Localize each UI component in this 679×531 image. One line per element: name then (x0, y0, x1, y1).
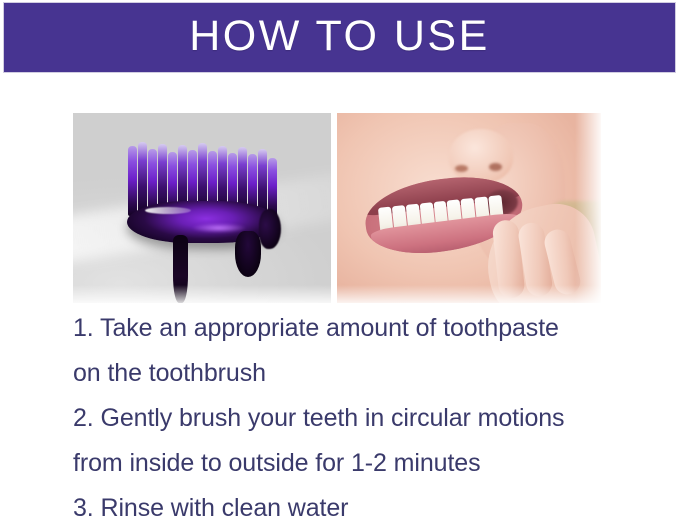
smile-photo-bottom-fade (337, 285, 601, 303)
how-to-use-infographic: HOW TO USE (0, 0, 679, 498)
instruction-line-5: 3. Rinse with clean water (73, 486, 633, 531)
nostril-right (489, 163, 502, 171)
toothbrush-head-purple-glow (191, 223, 247, 233)
photo-toothbrush-with-black-toothpaste (73, 113, 331, 303)
photo-strip (73, 113, 601, 303)
smile-photo-right-fade (575, 113, 601, 303)
toothbrush-head-highlight (145, 207, 191, 214)
instruction-line-2: on the toothbrush (73, 351, 633, 396)
header-banner: HOW TO USE (4, 3, 675, 72)
instruction-line-1: 1. Take an appropriate amount of toothpa… (73, 306, 633, 351)
brush-photo-bottom-fade (73, 285, 331, 303)
instruction-line-4: from inside to outside for 1-2 minutes (73, 441, 633, 486)
photo-woman-smiling-white-teeth (337, 113, 601, 303)
nose (449, 129, 513, 183)
instruction-line-3: 2. Gently brush your teeth in circular m… (73, 396, 633, 441)
page-title: HOW TO USE (189, 15, 490, 58)
nostril-left (455, 165, 468, 172)
instructions-list: 1. Take an appropriate amount of toothpa… (73, 306, 633, 531)
toothpaste-drip-side (235, 231, 261, 277)
toothpaste-drip-tail (259, 209, 281, 249)
